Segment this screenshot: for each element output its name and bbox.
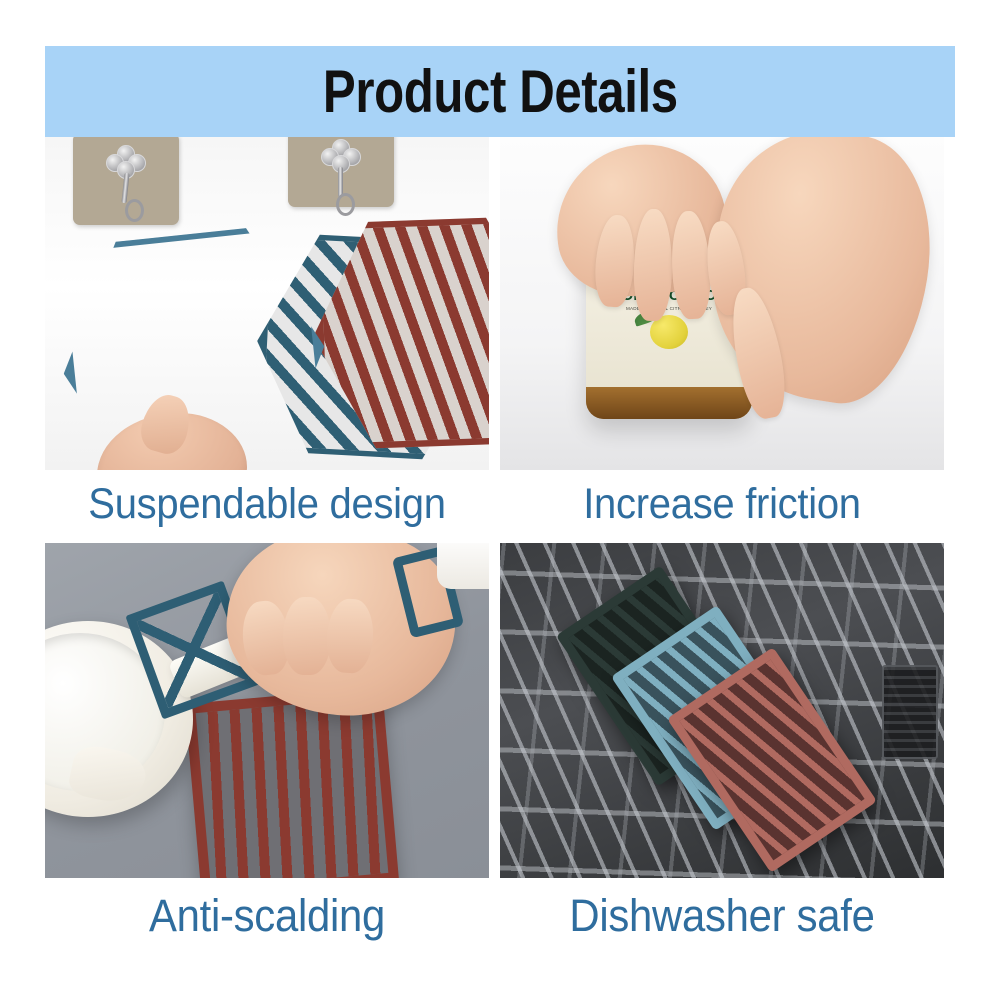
jar-base xyxy=(586,387,752,419)
title-banner: Product Details xyxy=(45,46,955,137)
feature-photo-increase-friction: ●●●● HONEY CITRON MADE WITH REAL CITRON … xyxy=(500,137,944,470)
feature-photo-suspendable-design xyxy=(45,137,489,470)
feature-card-dishwasher-safe: Dishwasher safe xyxy=(500,543,944,942)
hook-ring xyxy=(336,193,355,216)
feature-card-suspendable-design: Suspendable design xyxy=(45,137,489,530)
cutlery-basket xyxy=(882,665,938,759)
finger xyxy=(633,209,673,322)
feature-photo-dishwasher-safe xyxy=(500,543,944,878)
feature-caption-anti-scalding: Anti-scalding xyxy=(61,878,474,942)
feature-photo-anti-scalding xyxy=(45,543,489,878)
feature-caption-suspendable-design: Suspendable design xyxy=(61,470,474,530)
feature-caption-increase-friction: Increase friction xyxy=(516,470,929,530)
finger xyxy=(283,597,331,675)
feature-caption-dishwasher-safe: Dishwasher safe xyxy=(516,878,929,942)
page-title: Product Details xyxy=(323,62,678,122)
trivet-red-striped xyxy=(185,687,399,878)
sleeve-cuff xyxy=(437,543,489,589)
feature-card-anti-scalding: Anti-scalding xyxy=(45,543,489,942)
product-details-infographic: Product Details xyxy=(0,0,1000,1000)
hook-ring xyxy=(125,199,144,222)
feature-card-increase-friction: ●●●● HONEY CITRON MADE WITH REAL CITRON … xyxy=(500,137,944,530)
